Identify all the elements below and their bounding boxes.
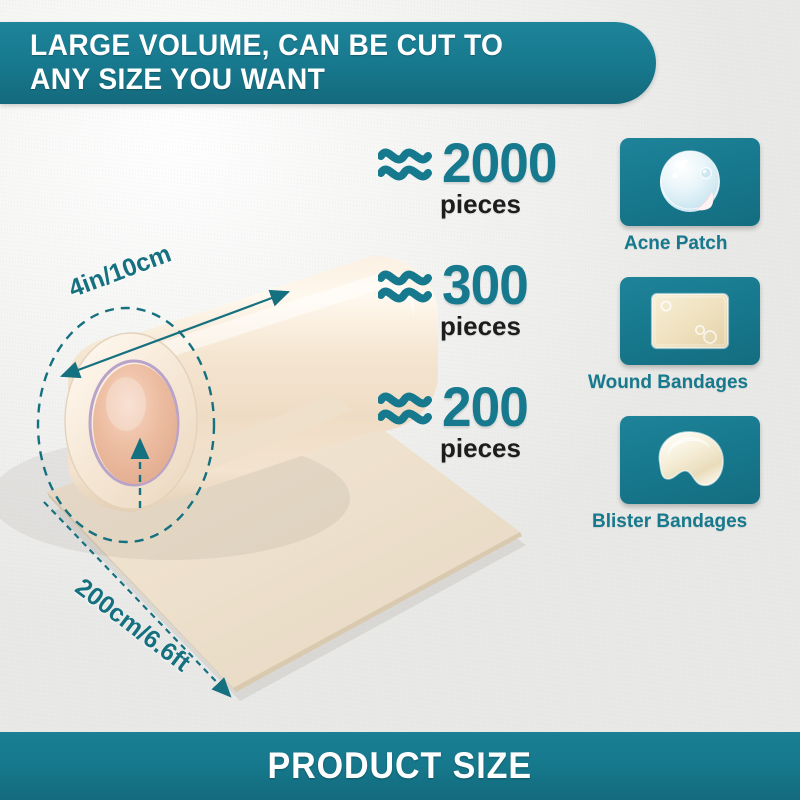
footer-title: PRODUCT SIZE <box>268 745 532 787</box>
stat-unit: pieces <box>440 190 618 218</box>
approximately-icon <box>378 264 432 306</box>
stat-row: 300 pieces <box>378 260 618 382</box>
product-card-label: Acne Patch <box>624 233 800 255</box>
stat-count: 300 <box>442 260 528 310</box>
approximately-icon <box>378 386 432 428</box>
acne-patch-icon <box>656 148 724 216</box>
product-card: Blister Bandages <box>620 416 800 533</box>
wound-bandage-card-box <box>620 277 760 365</box>
approximately-icon <box>378 142 432 184</box>
blister-bandage-card-box <box>620 416 760 504</box>
product-card-label: Blister Bandages <box>592 511 800 533</box>
product-type-cards: Acne Patch <box>620 138 800 555</box>
header-line-2: ANY SIZE YOU WANT <box>30 63 618 97</box>
wound-bandage-icon <box>640 287 740 355</box>
stat-count: 200 <box>442 382 528 432</box>
product-card: Wound Bandages <box>620 277 800 394</box>
stat-unit: pieces <box>440 434 618 462</box>
stat-row: 2000 pieces <box>378 138 618 260</box>
header-banner: LARGE VOLUME, CAN BE CUT TO ANY SIZE YOU… <box>0 22 656 104</box>
acne-patch-card-box <box>620 138 760 226</box>
header-line-1: LARGE VOLUME, CAN BE CUT TO <box>30 29 618 63</box>
blister-bandage-icon <box>644 428 736 492</box>
product-card-label: Wound Bandages <box>588 372 800 394</box>
stat-unit: pieces <box>440 312 618 340</box>
infographic-canvas: 4in/10cm 200cm/6.6ft LARGE VOLUME, CAN B… <box>0 0 800 800</box>
footer-banner: PRODUCT SIZE <box>0 732 800 800</box>
stat-row: 200 pieces <box>378 382 618 504</box>
product-card: Acne Patch <box>620 138 800 255</box>
stat-count: 2000 <box>442 138 557 188</box>
quantity-stats: 2000 pieces 300 pieces 200 pi <box>378 138 618 504</box>
